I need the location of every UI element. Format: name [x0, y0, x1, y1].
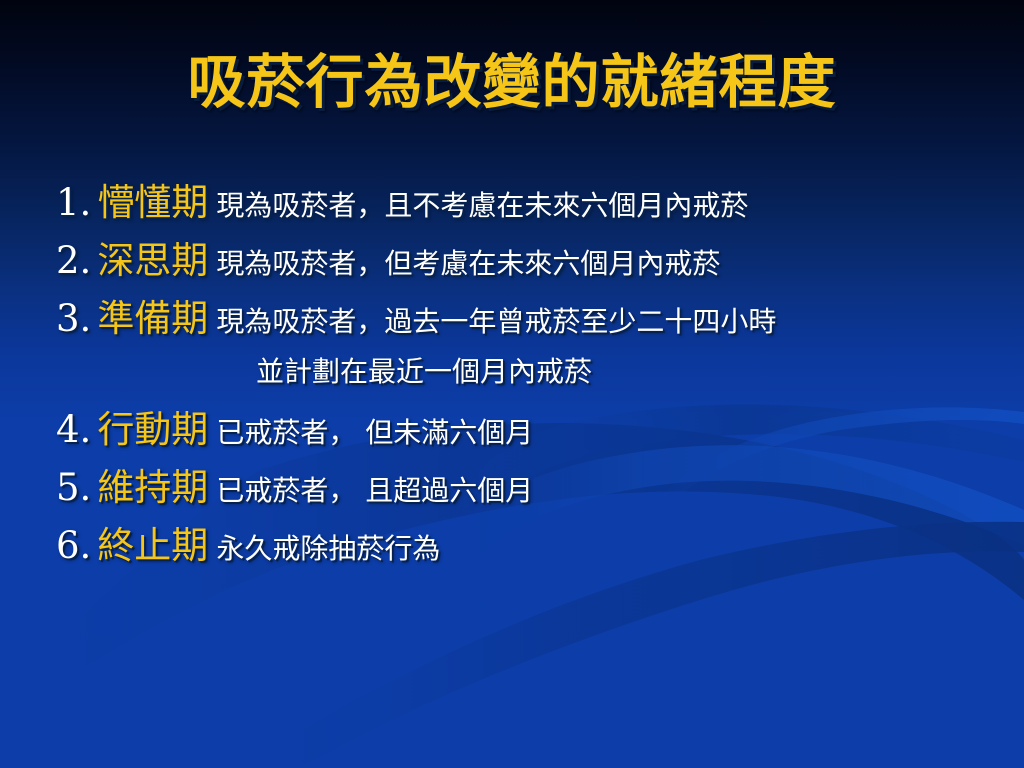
list-item-line: 3.準備期現為吸菸者，過去一年曾戒菸至少二十四小時 [56, 292, 996, 345]
list-item-stage-label: 懵懂期 [97, 181, 208, 224]
list-item-line: 2.深思期現為吸菸者，但考慮在未來六個月內戒菸 [56, 234, 996, 287]
list-item-stage-label: 深思期 [97, 239, 208, 282]
list-item: 2.深思期現為吸菸者，但考慮在未來六個月內戒菸 [56, 234, 996, 287]
list-item: 4.行動期已戒菸者， 但未滿六個月 [56, 403, 996, 456]
list-item-line: 5.維持期已戒菸者， 且超過六個月 [56, 461, 996, 514]
list-item-number: 5. [56, 466, 91, 509]
list-item-line: 1.懵懂期現為吸菸者，且不考慮在未來六個月內戒菸 [56, 176, 996, 229]
list-item-description: 現為吸菸者，且不考慮在未來六個月內戒菸 [216, 189, 748, 222]
presentation-slide: 吸菸行為改變的就緒程度 1.懵懂期現為吸菸者，且不考慮在未來六個月內戒菸 2.深… [0, 0, 1024, 768]
list-item-stage-label: 行動期 [97, 408, 208, 451]
list-item-continuation-line: 並計劃在最近一個月內戒菸 [56, 345, 996, 398]
list-item-description: 已戒菸者， 且超過六個月 [216, 474, 533, 507]
list-item-line: 6.終止期永久戒除抽菸行為 [56, 519, 996, 572]
stages-list: 1.懵懂期現為吸菸者，且不考慮在未來六個月內戒菸 2.深思期現為吸菸者，但考慮在… [56, 176, 996, 577]
list-item-continuation: 並計劃在最近一個月內戒菸 [256, 355, 592, 388]
slide-title: 吸菸行為改變的就緒程度 [0, 52, 1024, 113]
list-item-number: 1. [56, 181, 91, 224]
list-item: 6.終止期永久戒除抽菸行為 [56, 519, 996, 572]
list-item-number: 6. [56, 524, 91, 567]
list-item-number: 2. [56, 239, 91, 282]
list-item-description: 現為吸菸者，但考慮在未來六個月內戒菸 [216, 247, 720, 280]
list-item: 1.懵懂期現為吸菸者，且不考慮在未來六個月內戒菸 [56, 176, 996, 229]
list-item-number: 4. [56, 408, 91, 451]
list-item-stage-label: 終止期 [97, 524, 208, 567]
list-item-stage-label: 準備期 [97, 297, 208, 340]
list-item-description: 永久戒除抽菸行為 [216, 532, 440, 565]
list-item-line: 4.行動期已戒菸者， 但未滿六個月 [56, 403, 996, 456]
list-item-description: 現為吸菸者，過去一年曾戒菸至少二十四小時 [216, 305, 776, 338]
list-item-description: 已戒菸者， 但未滿六個月 [216, 416, 533, 449]
list-item-stage-label: 維持期 [97, 466, 208, 509]
list-item-number: 3. [56, 297, 91, 340]
list-item: 5.維持期已戒菸者， 且超過六個月 [56, 461, 996, 514]
list-item: 3.準備期現為吸菸者，過去一年曾戒菸至少二十四小時 並計劃在最近一個月內戒菸 [56, 292, 996, 398]
